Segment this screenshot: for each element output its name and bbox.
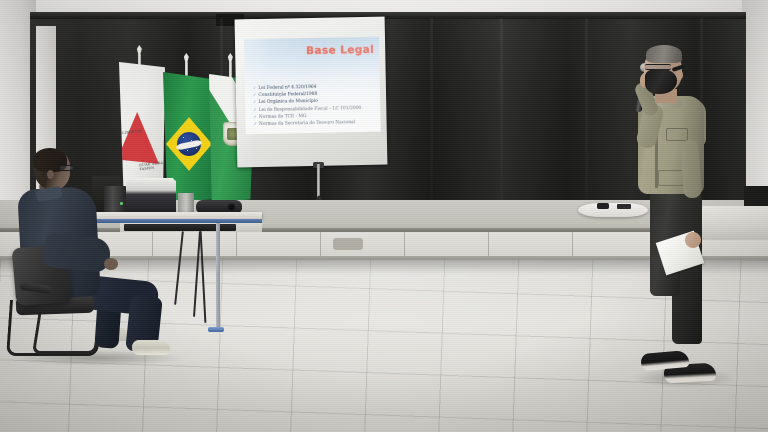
desk-leg (216, 223, 220, 329)
slide-bullet: Normas da Secretaria do Tesouro Nacional (254, 119, 377, 129)
curtain-rod (30, 12, 746, 19)
slide-bullet-list: Lei Federal nº 4.320/1964 Constituição F… (253, 83, 377, 129)
equipment-box (178, 193, 194, 214)
tile-joint (236, 232, 237, 258)
stage-scuff (333, 238, 363, 250)
curtain-fold (585, 18, 588, 214)
side-table (578, 203, 648, 217)
tile-joint (320, 232, 321, 258)
computer-tower (104, 186, 126, 214)
presentation-scene: LIBERTAS QUAE SERA TAMEN (0, 0, 768, 432)
table-object-dark (597, 203, 609, 209)
speaker-hair (646, 45, 682, 63)
projection-screen[interactable]: Base Legal Lei Federal nº 4.320/1964 Con… (235, 17, 388, 168)
tile-joint (404, 232, 405, 258)
wall-dark-recess (744, 186, 768, 208)
seated-arm (42, 233, 111, 274)
flag-triangle (119, 112, 159, 166)
desk-foot (208, 327, 224, 332)
slide-title: Base Legal (306, 44, 374, 57)
speaker-ear (676, 70, 683, 80)
flag-motto-line2: QUAE SERA TAMEN (139, 161, 165, 172)
desk-surface (86, 212, 262, 219)
seated-hand (104, 258, 118, 270)
tile-joint (488, 232, 489, 258)
seated-ear (47, 170, 54, 179)
tile-joint (152, 232, 153, 258)
wall-ledge (700, 206, 768, 240)
flag-cloth-minas-gerais: LIBERTAS QUAE SERA TAMEN (119, 62, 165, 194)
jacket-side-pocket (658, 170, 684, 186)
tile-joint (572, 232, 573, 258)
speaker-hand-right (685, 232, 701, 248)
seated-shoe (132, 340, 170, 355)
jacket-chest-pocket (666, 128, 688, 141)
table-object-remote (617, 204, 631, 209)
multifunction-printer (126, 180, 176, 214)
curtain-fold (430, 18, 433, 214)
eyeglasses-icon (59, 165, 74, 171)
projected-slide: Base Legal Lei Federal nº 4.320/1964 Con… (244, 37, 381, 135)
curtain-fold (500, 18, 503, 214)
